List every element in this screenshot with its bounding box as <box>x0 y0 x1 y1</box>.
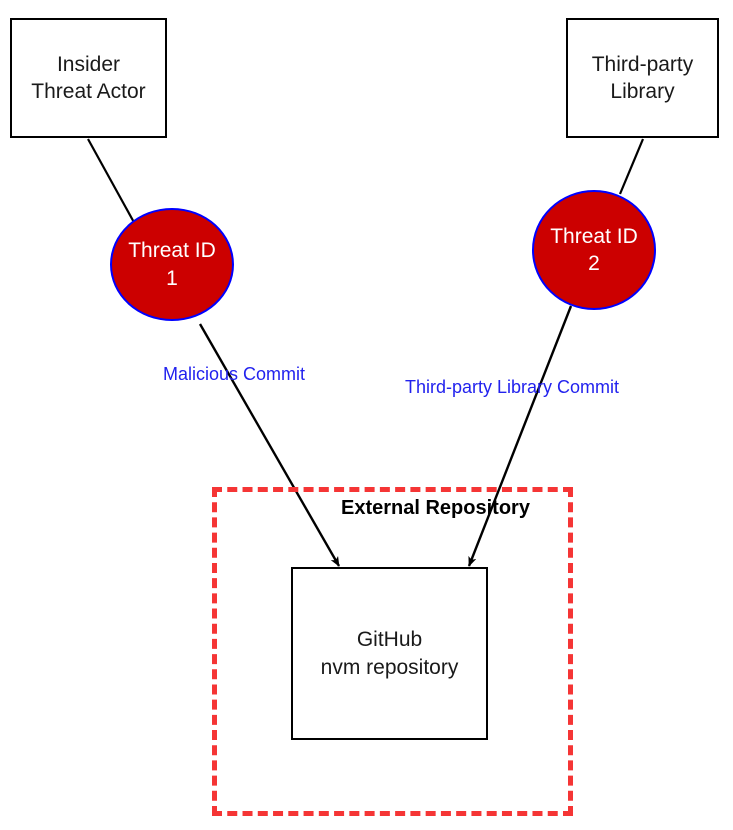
node-threat-id-2[interactable]: Threat ID 2 <box>532 190 656 310</box>
node-threat-id-1[interactable]: Threat ID 1 <box>110 208 234 321</box>
edge-library-to-threat-2 <box>620 139 643 194</box>
edge-label-malicious-commit: Malicious Commit <box>163 364 305 385</box>
node-insider-threat-actor[interactable]: Insider Threat Actor <box>10 18 167 138</box>
node-github-nvm-repository[interactable]: GitHub nvm repository <box>291 567 488 740</box>
edge-insider-to-threat-1 <box>88 139 136 226</box>
trust-boundary-label: External Repository <box>341 497 530 520</box>
node-third-party-library[interactable]: Third-party Library <box>566 18 719 138</box>
threat-model-diagram: External Repository Insider Threat Actor… <box>0 0 733 830</box>
edge-label-third-party-library-commit: Third-party Library Commit <box>405 377 619 398</box>
